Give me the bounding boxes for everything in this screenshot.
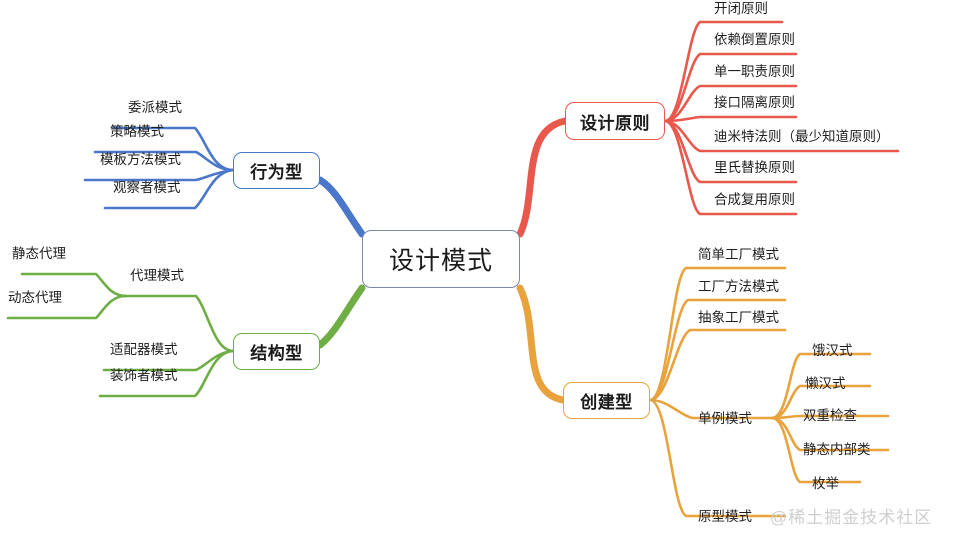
branch-node-creational[interactable]: 创建型: [563, 382, 650, 419]
trunk-principles: [520, 121, 565, 234]
leaf-creational-3[interactable]: 单例模式: [698, 412, 752, 426]
trunk-creational: [520, 288, 563, 400]
leaf-singleton-4[interactable]: 枚举: [812, 477, 839, 491]
root-node[interactable]: 设计模式: [362, 230, 520, 288]
branch-label-creational: 创建型: [580, 388, 633, 413]
leaf-singleton-3[interactable]: 静态内部类: [803, 443, 871, 457]
edge-behavioral-2: [85, 170, 233, 180]
branch-node-structural[interactable]: 结构型: [233, 333, 320, 370]
leaf-creational-2[interactable]: 抽象工厂模式: [698, 311, 779, 325]
leaf-structural-0[interactable]: 代理模式: [130, 269, 184, 283]
leaf-principles-2[interactable]: 单一职责原则: [714, 65, 795, 79]
trunk-structural: [320, 288, 362, 345]
leaf-proxy-1[interactable]: 动态代理: [8, 291, 62, 305]
leaf-structural-2[interactable]: 装饰者模式: [110, 369, 178, 383]
leaf-behavioral-3[interactable]: 观察者模式: [113, 181, 181, 195]
leaf-creational-1[interactable]: 工厂方法模式: [698, 280, 779, 294]
leaf-behavioral-1[interactable]: 策略模式: [110, 125, 164, 139]
leaf-structural-1[interactable]: 适配器模式: [110, 343, 178, 357]
leaf-singleton-0[interactable]: 饿汉式: [812, 344, 853, 358]
leaf-principles-1[interactable]: 依赖倒置原则: [714, 33, 795, 47]
leaf-behavioral-0[interactable]: 委派模式: [128, 101, 182, 115]
root-node-label: 设计模式: [389, 241, 493, 277]
branch-node-principles[interactable]: 设计原则: [565, 102, 665, 140]
edge-principles-3: [665, 117, 796, 121]
leaf-creational-0[interactable]: 简单工厂模式: [698, 248, 779, 262]
leaf-principles-6[interactable]: 合成复用原则: [714, 193, 795, 207]
leaf-behavioral-2[interactable]: 模板方法模式: [100, 153, 181, 167]
branch-label-principles: 设计原则: [580, 109, 650, 134]
branch-node-behavioral[interactable]: 行为型: [233, 152, 320, 189]
leaf-singleton-1[interactable]: 懒汉式: [805, 377, 846, 391]
branch-label-behavioral: 行为型: [250, 158, 303, 183]
leaf-principles-5[interactable]: 里氏替换原则: [714, 161, 795, 175]
edge-creational-2: [650, 330, 785, 400]
leaf-principles-3[interactable]: 接口隔离原则: [714, 96, 795, 110]
leaf-singleton-2[interactable]: 双重检查: [803, 409, 857, 423]
leaf-proxy-0[interactable]: 静态代理: [12, 247, 66, 261]
trunk-behavioral: [320, 180, 362, 234]
leaf-creational-4[interactable]: 原型模式: [698, 510, 752, 524]
branch-label-structural: 结构型: [250, 339, 303, 364]
leaf-principles-0[interactable]: 开闭原则: [714, 2, 768, 16]
leaf-principles-4[interactable]: 迪米特法则（最少知道原则）: [714, 130, 890, 144]
watermark: @稀土掘金技术社区: [770, 503, 932, 528]
